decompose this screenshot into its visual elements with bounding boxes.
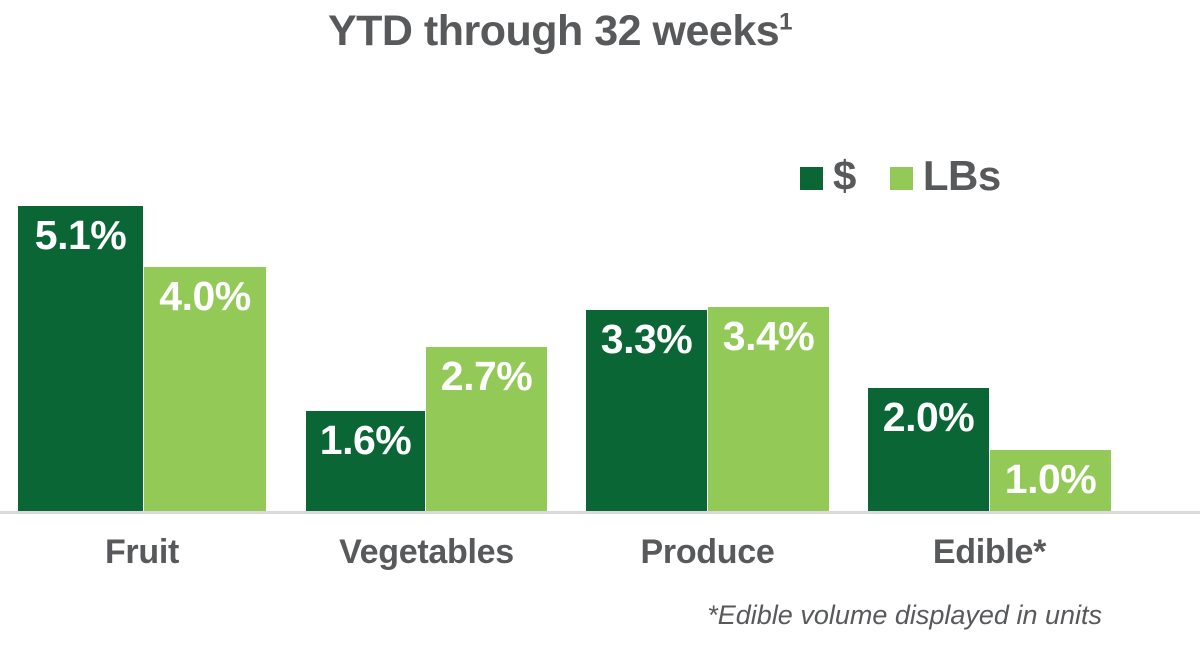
bar-value-edible-dollars: 2.0%: [868, 396, 989, 439]
category-label-edible: Edible*: [868, 533, 1111, 572]
bar-edible-dollars[interactable]: 2.0%: [868, 388, 989, 512]
plot-area: 5.1% 4.0% 1.6% 2.7% 3.3% 3.4% 2.0% 1.0%: [0, 0, 1200, 512]
x-axis-line: [0, 511, 1200, 514]
bar-produce-lbs[interactable]: 3.4%: [708, 307, 829, 512]
chart-slide: YTD through 32 weeks1 $ LBs 5.1% 4.0% 1.…: [0, 0, 1200, 663]
bar-vegetables-lbs[interactable]: 2.7%: [426, 347, 547, 512]
bar-vegetables-dollars[interactable]: 1.6%: [306, 411, 425, 512]
bar-fruit-lbs[interactable]: 4.0%: [144, 267, 266, 512]
bar-value-vegetables-lbs: 2.7%: [426, 355, 547, 398]
bar-value-produce-lbs: 3.4%: [708, 315, 829, 358]
bar-value-fruit-dollars: 5.1%: [18, 214, 143, 257]
bar-value-fruit-lbs: 4.0%: [144, 275, 266, 318]
bar-produce-dollars[interactable]: 3.3%: [586, 310, 707, 512]
category-label-produce: Produce: [586, 533, 829, 572]
bar-value-produce-dollars: 3.3%: [586, 318, 707, 361]
bar-edible-lbs[interactable]: 1.0%: [990, 450, 1111, 512]
bar-fruit-dollars[interactable]: 5.1%: [18, 206, 143, 512]
bar-value-vegetables-dollars: 1.6%: [306, 419, 425, 462]
category-label-vegetables: Vegetables: [306, 533, 547, 572]
footnote: *Edible volume displayed in units: [707, 600, 1102, 631]
category-label-fruit: Fruit: [18, 533, 266, 572]
bar-value-edible-lbs: 1.0%: [990, 458, 1111, 501]
